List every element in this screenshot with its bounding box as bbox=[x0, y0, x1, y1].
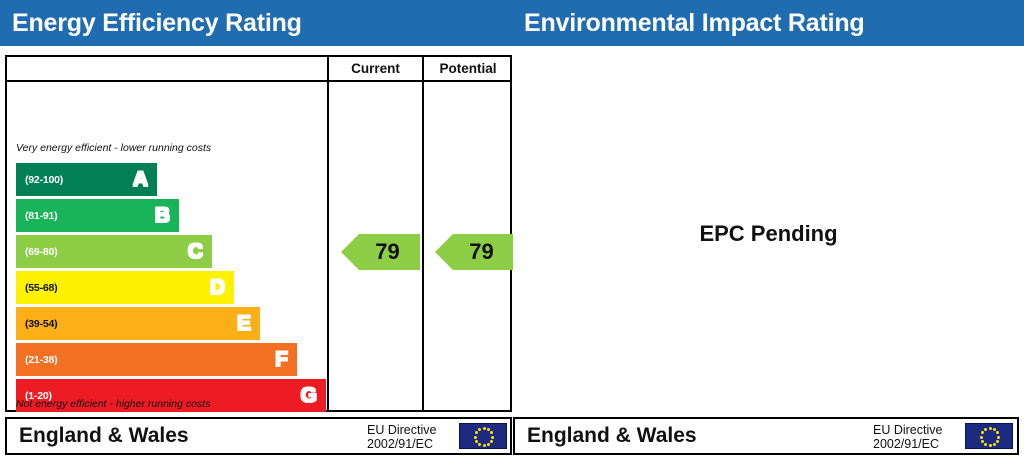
eu-star bbox=[996, 431, 999, 434]
band-range-label: (39-54) bbox=[25, 318, 57, 330]
band-letter-label: F bbox=[275, 348, 288, 372]
band-range-label: (21-38) bbox=[25, 354, 57, 366]
footer-left-region: England & Wales bbox=[19, 424, 189, 448]
band-range-label: (69-80) bbox=[25, 246, 57, 258]
eu-star bbox=[475, 431, 478, 434]
eu-flag-icon bbox=[965, 423, 1013, 449]
band-range-label: (55-68) bbox=[25, 282, 57, 294]
eu-star bbox=[487, 443, 490, 446]
footer-left-directive-line1: EU Directive bbox=[367, 423, 436, 437]
eu-star bbox=[475, 440, 478, 443]
table-header-row: Current Potential bbox=[7, 57, 510, 82]
eu-star bbox=[483, 427, 486, 430]
footer-left: England & Wales EU Directive 2002/91/EC bbox=[5, 417, 512, 455]
rating-bands: (92-100)A(81-91)B(69-80)C(55-68)D(39-54)… bbox=[16, 163, 326, 415]
footer-left-directive: EU Directive 2002/91/EC bbox=[367, 423, 436, 451]
eu-star bbox=[490, 431, 493, 434]
note-very-efficient: Very energy efficient - lower running co… bbox=[16, 142, 211, 154]
eu-flag-icon bbox=[459, 423, 507, 449]
band-letter-label: G bbox=[301, 384, 317, 408]
epc-graphic: Energy Efficiency Rating Environmental I… bbox=[0, 0, 1024, 457]
environmental-impact-panel: EPC Pending bbox=[513, 55, 1024, 412]
footer-right-directive-line1: EU Directive bbox=[873, 423, 942, 437]
eu-star bbox=[478, 428, 481, 431]
rating-band-d: (55-68)D bbox=[16, 271, 234, 304]
potential-rating-arrow: 79 bbox=[435, 234, 514, 270]
rating-band-e: (39-54)E bbox=[16, 307, 260, 340]
eu-star bbox=[981, 440, 984, 443]
rating-band-c: (69-80)C bbox=[16, 235, 212, 268]
eu-star bbox=[491, 436, 494, 439]
rating-band-a: (92-100)A bbox=[16, 163, 157, 196]
column-header-current: Current bbox=[327, 57, 422, 80]
rating-band-b: (81-91)B bbox=[16, 199, 179, 232]
band-letter-label: E bbox=[237, 312, 251, 336]
eu-star bbox=[989, 444, 992, 447]
eu-star bbox=[984, 443, 987, 446]
current-rating-arrow: 79 bbox=[341, 234, 420, 270]
environmental-impact-title: Environmental Impact Rating bbox=[524, 9, 865, 38]
eu-star bbox=[474, 436, 477, 439]
band-letter-label: D bbox=[210, 276, 225, 300]
footer-right-directive: EU Directive 2002/91/EC bbox=[873, 423, 942, 451]
eu-star bbox=[989, 427, 992, 430]
eu-star bbox=[490, 440, 493, 443]
energy-efficiency-title: Energy Efficiency Rating bbox=[12, 9, 302, 38]
column-divider-2 bbox=[422, 82, 424, 412]
footer-right: England & Wales EU Directive 2002/91/EC bbox=[513, 417, 1019, 455]
eu-star bbox=[980, 436, 983, 439]
column-header-potential: Potential bbox=[422, 57, 512, 80]
band-letter-label: B bbox=[155, 204, 170, 228]
eu-star bbox=[997, 436, 1000, 439]
band-letter-label: C bbox=[188, 240, 203, 264]
rating-band-f: (21-38)F bbox=[16, 343, 297, 376]
eu-star bbox=[996, 440, 999, 443]
eu-star bbox=[984, 428, 987, 431]
epc-pending-status: EPC Pending bbox=[699, 221, 837, 247]
column-divider-1 bbox=[327, 82, 329, 412]
eu-star bbox=[478, 443, 481, 446]
band-range-label: (92-100) bbox=[25, 174, 63, 186]
band-letter-label: A bbox=[133, 168, 148, 192]
footer-right-region: England & Wales bbox=[527, 424, 697, 448]
eu-star bbox=[981, 431, 984, 434]
energy-efficiency-table: Current Potential Very energy efficient … bbox=[5, 55, 512, 412]
band-range-label: (81-91) bbox=[25, 210, 57, 222]
note-not-efficient: Not energy efficient - higher running co… bbox=[16, 398, 210, 410]
footer-left-directive-line2: 2002/91/EC bbox=[367, 437, 436, 451]
eu-star bbox=[993, 443, 996, 446]
footer-right-directive-line2: 2002/91/EC bbox=[873, 437, 942, 451]
eu-star bbox=[483, 444, 486, 447]
